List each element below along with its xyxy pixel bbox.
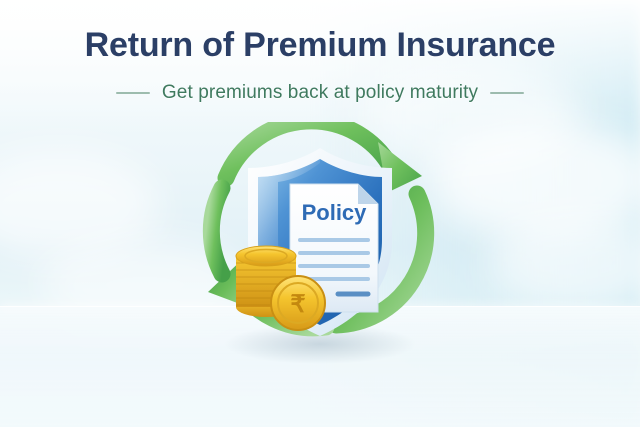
document-title: Policy — [302, 200, 368, 225]
divider-right — [490, 92, 524, 94]
cycle-arc-left — [211, 188, 222, 274]
divider-left — [116, 92, 150, 94]
illustration-canvas: Return of Premium Insurance Get premiums… — [0, 0, 640, 427]
background-top-fade — [0, 0, 640, 130]
coin-front: ₹ — [271, 276, 325, 330]
page-subtitle: Get premiums back at policy maturity — [162, 82, 478, 104]
cloud-shape — [0, 150, 160, 260]
page-title: Return of Premium Insurance — [0, 26, 640, 65]
return-of-premium-illustration: Policy — [186, 122, 454, 370]
subtitle-row: Get premiums back at policy maturity — [0, 82, 640, 104]
currency-symbol: ₹ — [290, 291, 305, 318]
